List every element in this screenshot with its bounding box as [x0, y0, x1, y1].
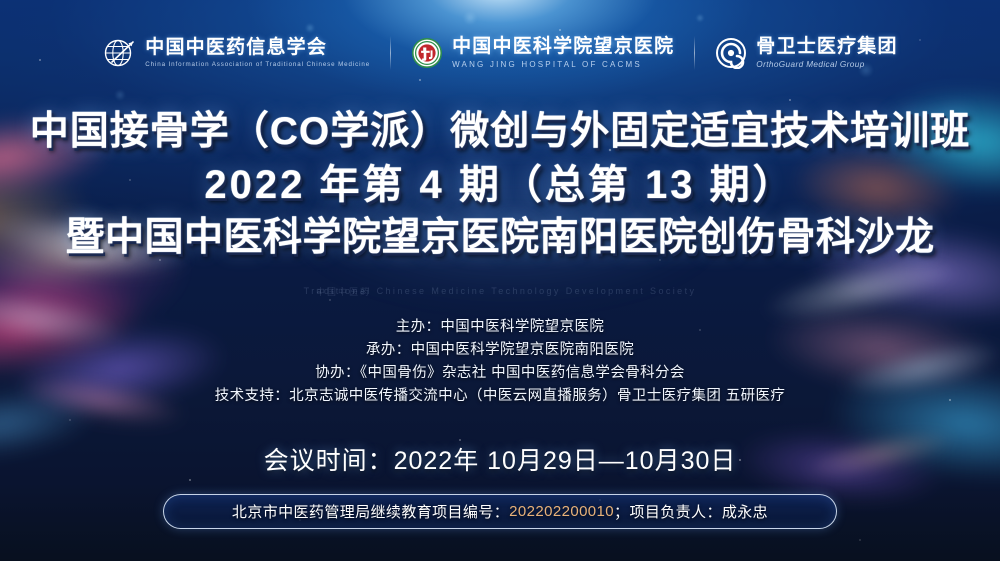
organizer-tech-support: 技术支持：北京志诚中医传播交流中心（中医云网直播服务）骨卫士医疗集团 五研医疗: [0, 385, 1000, 408]
logo-orthoguard-medical-group: 骨卫士医疗集团 OrthoGuard Medical Group: [715, 36, 897, 71]
logo-name-cn: 中国中医科学院望京医院: [452, 36, 674, 57]
title-line-1: 中国接骨学（CO学派）微创与外固定适宜技术培训班: [0, 112, 1000, 151]
poster-title-block: 中国接骨学（CO学派）微创与外固定适宜技术培训班 2022 年第 4 期（总第 …: [0, 112, 1000, 257]
logo-text-block: 中国中医药信息学会 China Information Association …: [145, 37, 370, 69]
logo-divider-1: [390, 36, 391, 70]
title-line-3: 暨中国中医科学院望京医院南阳医院创伤骨科沙龙: [0, 218, 1000, 257]
hospital-emblem-icon: [411, 37, 443, 69]
conference-date: 会议时间：2022年 10月29日—10月30日: [0, 441, 1000, 477]
decorative-english-watermark: Traditional Chinese Medicine Technology …: [0, 286, 1000, 296]
logo-text-block: 中国中医科学院望京医院 WANG JING HOSPITAL OF CACMS: [452, 36, 674, 70]
logo-name-en: WANG JING HOSPITAL OF CACMS: [452, 59, 674, 70]
logo-divider-2: [694, 36, 695, 70]
logo-name-en: China Information Association of Traditi…: [145, 61, 370, 70]
globe-icon: [102, 36, 136, 70]
logo-name-cn: 中国中医药信息学会: [145, 37, 370, 58]
logo-name-cn: 骨卫士医疗集团: [756, 36, 897, 57]
project-number-value: 202202200010: [509, 503, 614, 520]
logo-wangjing-hospital: 中国中医科学院望京医院 WANG JING HOSPITAL OF CACMS: [411, 36, 674, 70]
logo-cn-information-association: 中国中医药信息学会 China Information Association …: [102, 36, 370, 70]
project-leader-text: ；项目负责人：成永忠: [614, 501, 768, 522]
spiral-target-icon: [715, 37, 747, 69]
project-number-prefix: 北京市中医药管理局继续教育项目编号：: [232, 501, 509, 522]
conference-poster: 中国中医药信息学会 China Information Association …: [0, 0, 1000, 561]
organizer-host: 主办：中国中医科学院望京医院: [0, 316, 1000, 339]
logo-name-en: OrthoGuard Medical Group: [756, 59, 897, 70]
sponsor-logo-bar: 中国中医药信息学会 China Information Association …: [0, 36, 1000, 71]
organizer-undertaker: 承办：中国中医科学院望京医院南阳医院: [0, 339, 1000, 362]
poster-content: 中国中医药信息学会 China Information Association …: [0, 0, 1000, 561]
project-number-badge: 北京市中医药管理局继续教育项目编号：202202200010；项目负责人：成永忠: [163, 494, 837, 529]
decorative-chinese-watermark: 中国中医药: [316, 285, 371, 298]
organizer-co-organizer: 协办：《中国骨伤》杂志社 中国中医药信息学会骨科分会: [0, 362, 1000, 385]
organizer-list: 主办：中国中医科学院望京医院 承办：中国中医科学院望京医院南阳医院 协办：《中国…: [0, 316, 1000, 408]
logo-text-block: 骨卫士医疗集团 OrthoGuard Medical Group: [756, 36, 897, 71]
title-line-2: 2022 年第 4 期（总第 13 期）: [0, 165, 1000, 205]
